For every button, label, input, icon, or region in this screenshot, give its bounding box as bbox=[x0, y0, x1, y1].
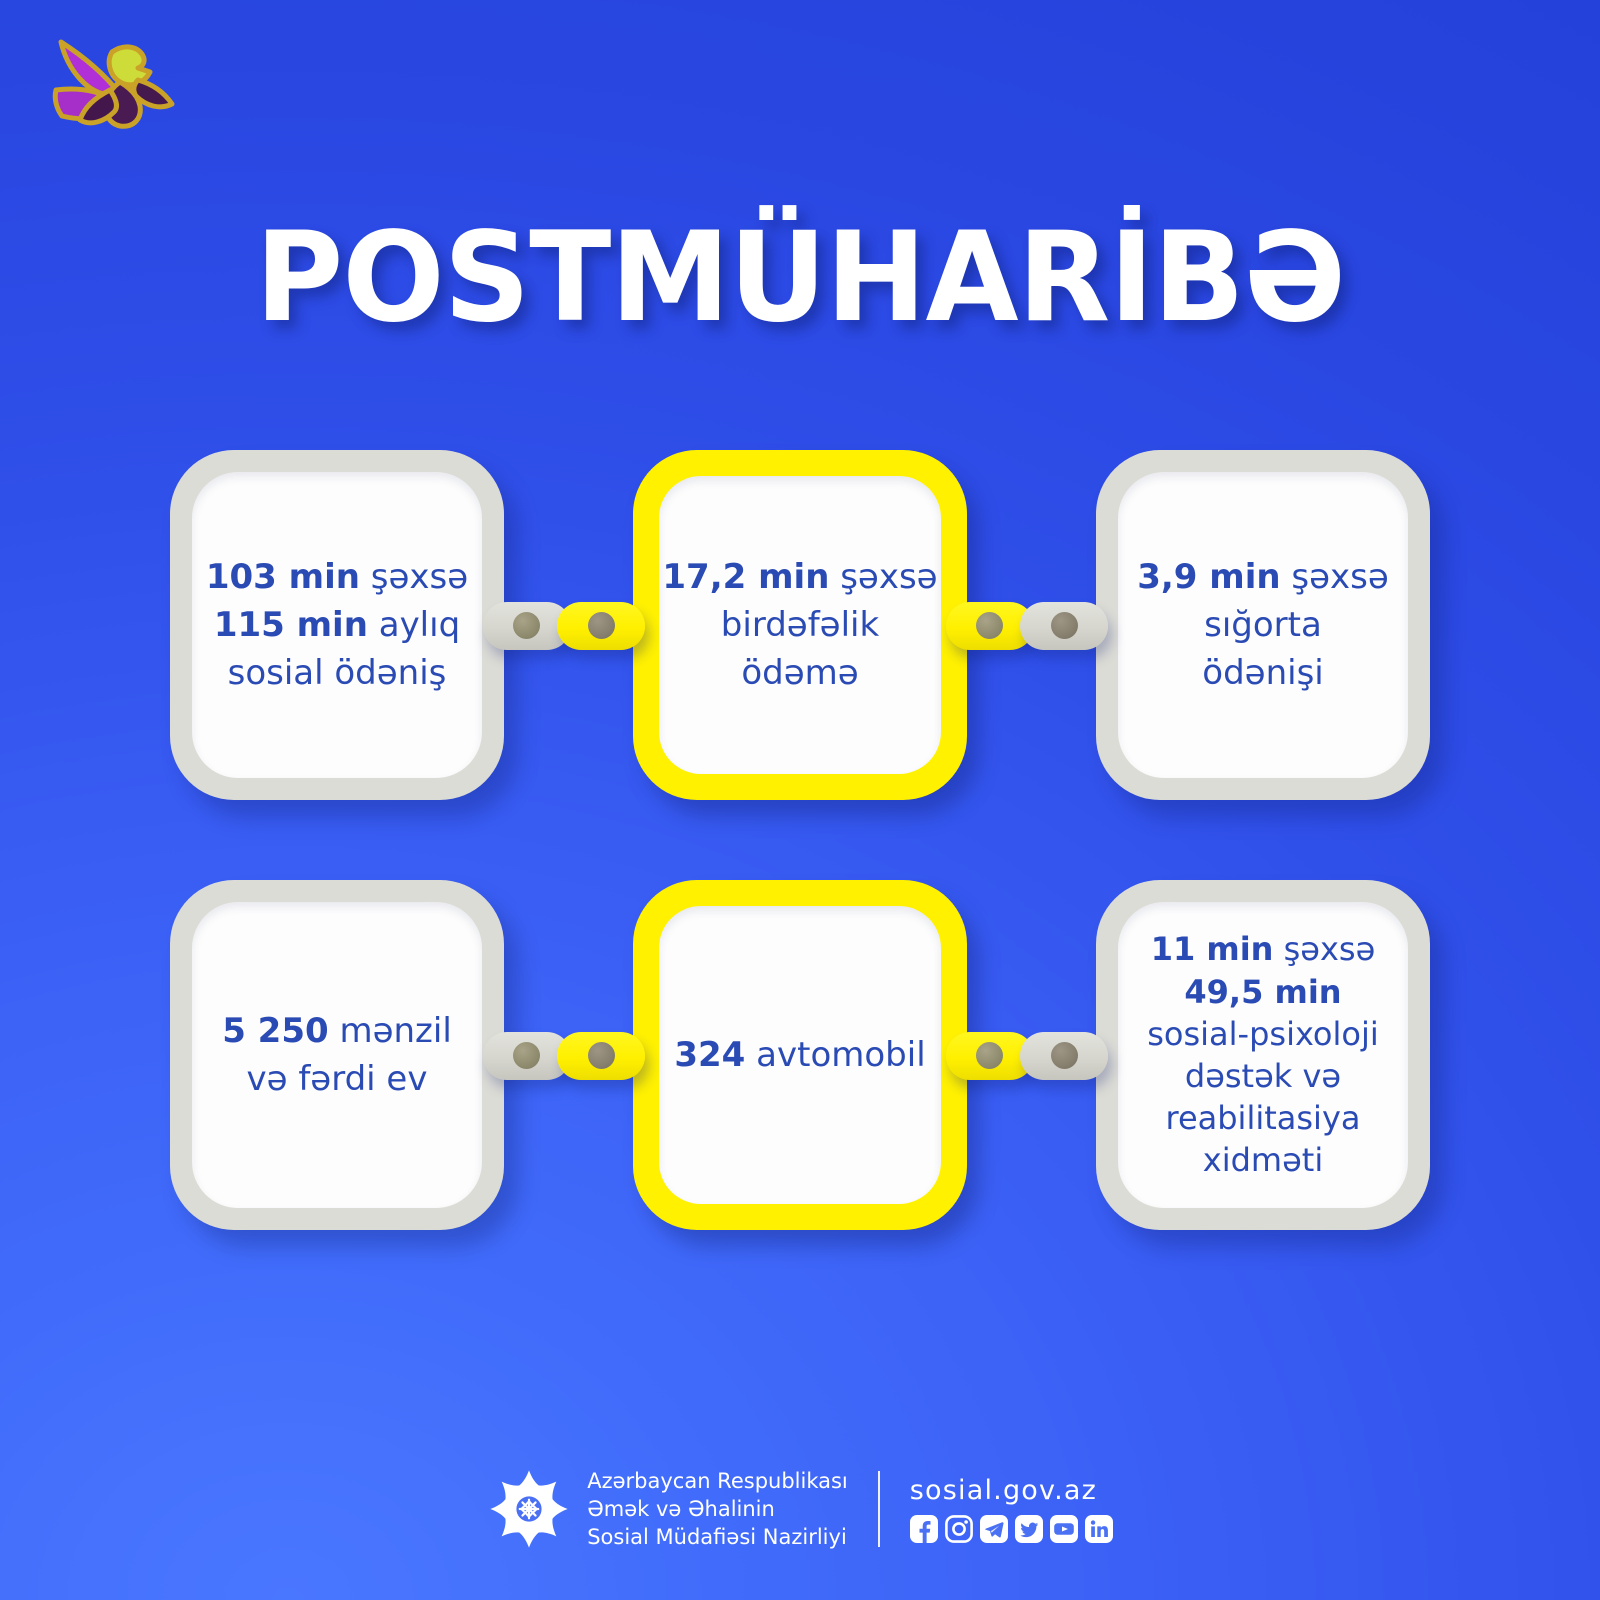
stat-value: 5 250 bbox=[222, 1011, 328, 1051]
stat-unit: ödənişi bbox=[1202, 653, 1323, 693]
footer-site-block: sosial.gov.az bbox=[910, 1475, 1113, 1543]
telegram-icon[interactable] bbox=[980, 1515, 1008, 1543]
stat-value: 103 min bbox=[206, 557, 360, 597]
stat-value: 11 min bbox=[1151, 930, 1274, 968]
stat-card-psychosocial-support[interactable]: 11 min şəxsə 49,5 min sosial-psixoloji d… bbox=[1096, 880, 1430, 1230]
social-links bbox=[910, 1515, 1113, 1543]
card-panel: 103 min şəxsə 115 min aylıq sosial ödəni… bbox=[192, 472, 482, 778]
stat-unit: ödəmə bbox=[741, 653, 858, 693]
stat-unit: və fərdi ev bbox=[246, 1059, 427, 1099]
stat-unit: dəstək və bbox=[1185, 1057, 1341, 1095]
stat-unit: birdəfəlik bbox=[721, 605, 879, 645]
card-connector bbox=[489, 1024, 639, 1088]
stat-value: 3,9 min bbox=[1137, 557, 1280, 597]
card-panel: 11 min şəxsə 49,5 min sosial-psixoloji d… bbox=[1118, 902, 1408, 1208]
stat-unit: şəxsə bbox=[360, 557, 468, 597]
connector-rivet-icon bbox=[976, 612, 1003, 639]
website-url[interactable]: sosial.gov.az bbox=[910, 1475, 1113, 1506]
connector-rivet-icon bbox=[1051, 612, 1078, 639]
card-cell: 324 avtomobil bbox=[633, 880, 967, 1230]
footer-divider bbox=[878, 1471, 880, 1547]
stat-unit: reabilitasiya bbox=[1165, 1099, 1360, 1137]
connector-rivet-icon bbox=[588, 612, 615, 639]
card-connector bbox=[952, 594, 1102, 658]
stat-value: 324 bbox=[674, 1035, 745, 1075]
twitter-icon[interactable] bbox=[1015, 1515, 1043, 1543]
stat-unit: xidməti bbox=[1203, 1141, 1323, 1179]
ministry-line-3: Sosial Müdafiəsi Nazirliyi bbox=[587, 1523, 848, 1551]
stat-card-housing[interactable]: 5 250 mənzil və fərdi ev bbox=[170, 880, 504, 1230]
page-title: POSTMÜHARİBƏ bbox=[24, 216, 1576, 340]
card-panel: 324 avtomobil bbox=[659, 906, 941, 1204]
stat-card-vehicles[interactable]: 324 avtomobil bbox=[633, 880, 967, 1230]
stat-unit: sosial ödəniş bbox=[228, 653, 447, 693]
connector-rivet-icon bbox=[1051, 1042, 1078, 1069]
card-panel: 3,9 min şəxsə sığorta ödənişi bbox=[1118, 472, 1408, 778]
ministry-star-emblem-icon bbox=[487, 1467, 571, 1551]
stat-text: 5 250 mənzil və fərdi ev bbox=[222, 1007, 452, 1104]
stat-card-insurance-payment[interactable]: 3,9 min şəxsə sığorta ödənişi bbox=[1096, 450, 1430, 800]
stat-text: 3,9 min şəxsə sığorta ödənişi bbox=[1137, 553, 1389, 698]
stat-unit: şəxsə bbox=[829, 557, 937, 597]
stat-text: 11 min şəxsə 49,5 min sosial-psixoloji d… bbox=[1147, 928, 1379, 1181]
footer: Azərbaycan Respublikası Əmək və Əhalinin… bbox=[0, 1454, 1600, 1564]
card-cell: 5 250 mənzil və fərdi ev bbox=[170, 880, 504, 1230]
linkedin-icon[interactable] bbox=[1085, 1515, 1113, 1543]
ministry-line-2: Əmək və Əhalinin bbox=[587, 1495, 848, 1523]
card-cell: 3,9 min şəxsə sığorta ödənişi bbox=[1096, 450, 1430, 800]
card-cell: 103 min şəxsə 115 min aylıq sosial ödəni… bbox=[170, 450, 504, 800]
facebook-icon[interactable] bbox=[910, 1515, 938, 1543]
youtube-icon[interactable] bbox=[1050, 1515, 1078, 1543]
connector-rivet-icon bbox=[513, 1042, 540, 1069]
stat-unit: sosial-psixoloji bbox=[1147, 1015, 1379, 1053]
stat-card-one-time-payment[interactable]: 17,2 min şəxsə birdəfəlik ödəmə bbox=[633, 450, 967, 800]
instagram-icon[interactable] bbox=[945, 1515, 973, 1543]
card-row-2: 5 250 mənzil və fərdi ev 324 avtomobil bbox=[0, 880, 1600, 1230]
stat-unit: avtomobil bbox=[745, 1035, 925, 1075]
stat-unit: şəxsə bbox=[1273, 930, 1375, 968]
ministry-name: Azərbaycan Respublikası Əmək və Əhalinin… bbox=[587, 1467, 848, 1551]
card-connector bbox=[489, 594, 639, 658]
stat-text: 103 min şəxsə 115 min aylıq sosial ödəni… bbox=[206, 553, 468, 698]
stat-unit: sığorta bbox=[1204, 605, 1322, 645]
stat-card-social-payments[interactable]: 103 min şəxsə 115 min aylıq sosial ödəni… bbox=[170, 450, 504, 800]
ministry-line-1: Azərbaycan Respublikası bbox=[587, 1467, 848, 1495]
connector-rivet-icon bbox=[513, 612, 540, 639]
card-cell: 11 min şəxsə 49,5 min sosial-psixoloji d… bbox=[1096, 880, 1430, 1230]
card-connector bbox=[952, 1024, 1102, 1088]
stat-value: 49,5 min bbox=[1184, 973, 1341, 1011]
stat-text: 17,2 min şəxsə birdəfəlik ödəmə bbox=[662, 553, 937, 698]
stat-unit: mənzil bbox=[329, 1011, 452, 1051]
card-cell: 17,2 min şəxsə birdəfəlik ödəmə bbox=[633, 450, 967, 800]
bird-flower-emblem-icon bbox=[34, 22, 204, 187]
stat-text: 324 avtomobil bbox=[674, 1031, 925, 1079]
stat-unit: aylıq bbox=[368, 605, 460, 645]
connector-rivet-icon bbox=[976, 1042, 1003, 1069]
stat-value: 17,2 min bbox=[662, 557, 829, 597]
stat-unit: şəxsə bbox=[1281, 557, 1389, 597]
connector-rivet-icon bbox=[588, 1042, 615, 1069]
stat-value: 115 min bbox=[214, 605, 368, 645]
card-panel: 5 250 mənzil və fərdi ev bbox=[192, 902, 482, 1208]
card-panel: 17,2 min şəxsə birdəfəlik ödəmə bbox=[659, 476, 941, 774]
card-row-1: 103 min şəxsə 115 min aylıq sosial ödəni… bbox=[0, 450, 1600, 800]
